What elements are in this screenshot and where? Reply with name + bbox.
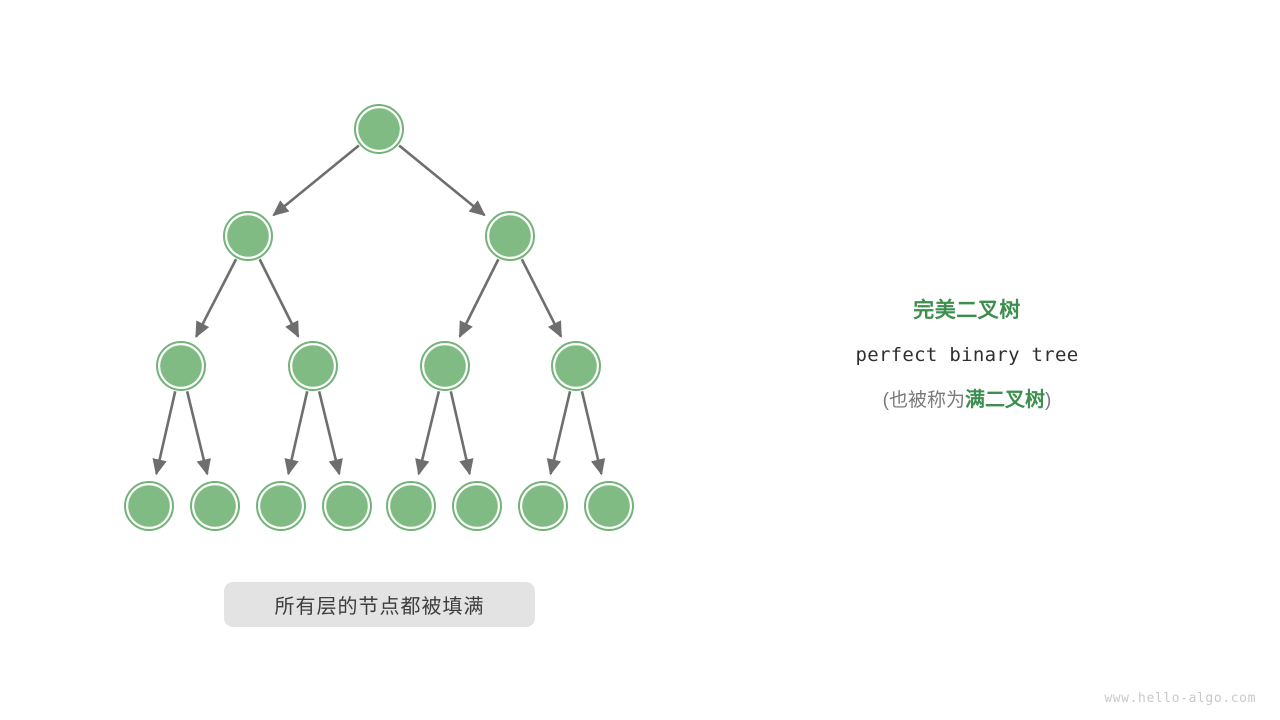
legend-alias-highlight: 满二叉树	[965, 389, 1045, 411]
tree-edge	[460, 259, 499, 336]
watermark: www.hello-algo.com	[1104, 691, 1256, 706]
tree-node[interactable]	[257, 482, 305, 530]
tree-node-fill	[227, 215, 269, 257]
tree-node-fill	[358, 108, 400, 150]
tree-node[interactable]	[355, 105, 403, 153]
tree-node[interactable]	[224, 212, 272, 260]
tree-edge	[274, 145, 359, 215]
tree-edge	[451, 391, 470, 473]
tree-edge	[419, 391, 439, 474]
tree-node[interactable]	[552, 342, 600, 390]
legend-alias-prefix: (也被称为	[883, 390, 965, 411]
edge-layer	[156, 145, 601, 473]
tree-node-fill	[489, 215, 531, 257]
legend-alias-suffix: )	[1045, 390, 1051, 411]
tree-node[interactable]	[387, 482, 435, 530]
tree-edge	[156, 391, 175, 473]
tree-node-fill	[588, 485, 630, 527]
tree-node[interactable]	[519, 482, 567, 530]
caption-badge: 所有层的节点都被填满	[224, 582, 535, 627]
tree-edge	[187, 391, 207, 474]
legend-alias: (也被称为满二叉树)	[807, 385, 1127, 416]
legend-text-block: 完美二叉树 perfect binary tree (也被称为满二叉树)	[807, 296, 1127, 416]
legend-title: 完美二叉树	[807, 296, 1127, 326]
tree-node-fill	[555, 345, 597, 387]
tree-node[interactable]	[486, 212, 534, 260]
tree-edge	[319, 391, 339, 474]
tree-node-fill	[260, 485, 302, 527]
tree-node[interactable]	[421, 342, 469, 390]
node-layer	[125, 105, 633, 530]
legend-english-term: perfect binary tree	[807, 340, 1127, 370]
tree-node-fill	[160, 345, 202, 387]
tree-node-fill	[128, 485, 170, 527]
tree-node[interactable]	[289, 342, 337, 390]
tree-node-fill	[390, 485, 432, 527]
tree-node[interactable]	[453, 482, 501, 530]
tree-edge	[522, 259, 561, 336]
caption-text: 所有层的节点都被填满	[275, 590, 485, 619]
tree-node-fill	[292, 345, 334, 387]
tree-node[interactable]	[125, 482, 173, 530]
tree-node-fill	[194, 485, 236, 527]
tree-node[interactable]	[191, 482, 239, 530]
tree-node[interactable]	[157, 342, 205, 390]
tree-edge	[196, 259, 236, 337]
tree-node-fill	[456, 485, 498, 527]
tree-node-fill	[424, 345, 466, 387]
tree-node-fill	[326, 485, 368, 527]
tree-edge	[582, 391, 601, 474]
tree-edge	[551, 391, 570, 474]
tree-edge	[399, 145, 484, 215]
tree-node[interactable]	[585, 482, 633, 530]
tree-edge	[288, 391, 307, 473]
tree-edge	[260, 259, 299, 336]
tree-node[interactable]	[323, 482, 371, 530]
tree-node-fill	[522, 485, 564, 527]
